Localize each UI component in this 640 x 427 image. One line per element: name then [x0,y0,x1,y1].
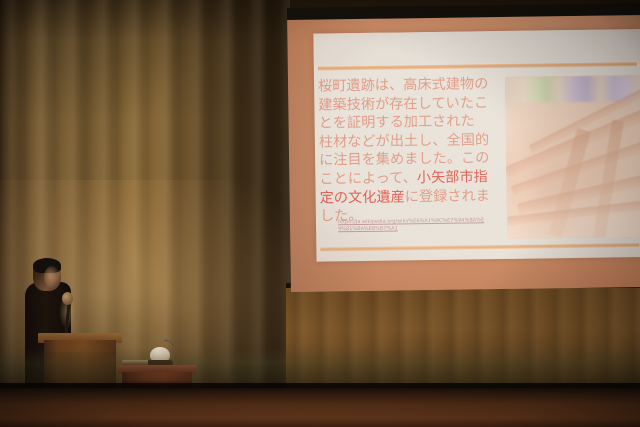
presentation-slide: 桜町遺跡は、高床式建物の建築技術が存在していたことを証明する加工された柱材などが… [313,29,640,262]
slide-body-line: 桜町遺跡は、高床式建物の [318,75,500,96]
slide-highlight-text: 定の文化遺産 [320,189,405,206]
slide-text-run: ことによって、 [319,170,417,187]
presenter-face [44,266,60,288]
slide-text-run: に注目を集めました。この [319,151,489,169]
auditorium-presentation-photo: 桜町遺跡は、高床式建物の建築技術が存在していたことを証明する加工された柱材などが… [0,0,640,427]
slide-body-line: に注目を集めました。この [319,149,501,170]
slide-text-run: とを証明する加工された [319,114,475,132]
excavation-photo [505,75,640,239]
slide-body-text: 桜町遺跡は、高床式建物の建築技術が存在していたことを証明する加工された柱材などが… [318,75,502,226]
slide-body-line: 定の文化遺産に登録されま [320,187,502,208]
microphone-icon [62,292,73,305]
slide-rule-bottom [320,243,639,251]
slide-body-line: 建築技術が存在していたこ [318,94,500,115]
slide-title-area [313,29,640,66]
slide-text-run: 桜町遺跡は、高床式建物の [318,76,488,94]
slide-text-run: に登録されま [405,188,490,205]
slide-body-line: とを証明する加工された [318,112,500,133]
slide-source-url: https://ja.wikipedia.org/wiki/%E6%A1%9C%… [338,217,488,232]
slide-body-line: 柱材などが出土し、全国的 [319,131,501,152]
stage-floor [0,388,640,427]
slide-text-run: 建築技術が存在していたこ [318,95,488,113]
projection-screen: 桜町遺跡は、高床式建物の建築技術が存在していたことを証明する加工された柱材などが… [287,3,640,290]
slide-body-line: ことによって、小矢部市指 [319,168,501,189]
slide-text-run: 柱材などが出土し、全国的 [319,132,489,150]
slide-highlight-text: 小矢部市指 [417,169,488,186]
photo-projector-haze [505,75,640,239]
